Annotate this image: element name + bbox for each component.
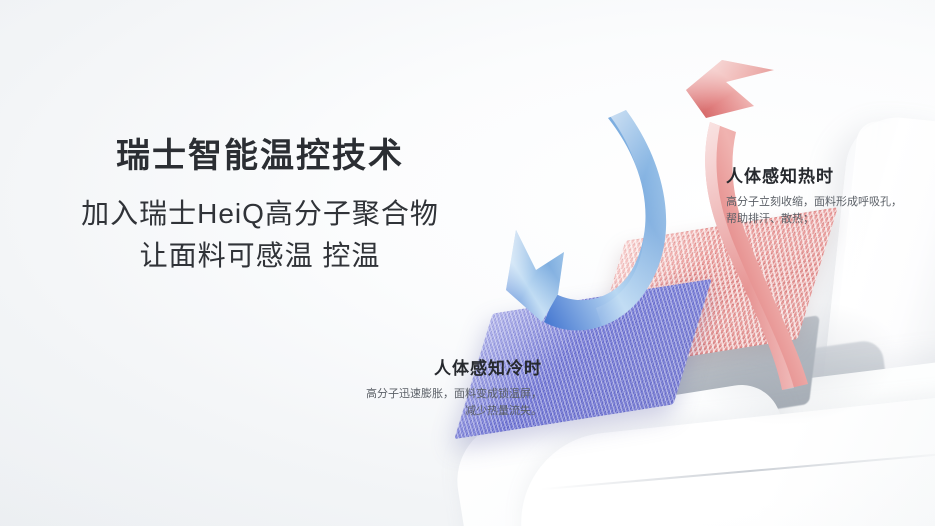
banner-stage: 瑞士智能温控技术 加入瑞士HeiQ高分子聚合物 让面料可感温 控温 人体感知热时… [0, 0, 935, 526]
callout-cold-line-1: 高分子迅速膨胀，面料变成锁温屏， [300, 386, 542, 403]
callout-cold-body: 高分子迅速膨胀，面料变成锁温屏， 减少热量流失。 [300, 386, 542, 420]
callout-hot-line-1: 高分子立刻收缩，面料形成呼吸孔， [726, 194, 902, 211]
callout-cold-title: 人体感知冷时 [300, 358, 542, 380]
callout-hot-body: 高分子立刻收缩，面料形成呼吸孔， 帮助排汗、散热； [726, 194, 902, 228]
callout-cold-line-2: 减少热量流失。 [300, 403, 542, 420]
callout-hot-line-2: 帮助排汗、散热； [726, 211, 902, 228]
callout-hot: 人体感知热时 高分子立刻收缩，面料形成呼吸孔， 帮助排汗、散热； [726, 166, 902, 228]
callout-cold: 人体感知冷时 高分子迅速膨胀，面料变成锁温屏， 减少热量流失。 [300, 358, 542, 420]
callout-hot-title: 人体感知热时 [726, 166, 902, 188]
page-title: 瑞士智能温控技术 [0, 136, 520, 176]
subtitle-line-1: 加入瑞士HeiQ高分子聚合物 [0, 192, 520, 232]
subtitle-line-2: 让面料可感温 控温 [0, 234, 520, 274]
